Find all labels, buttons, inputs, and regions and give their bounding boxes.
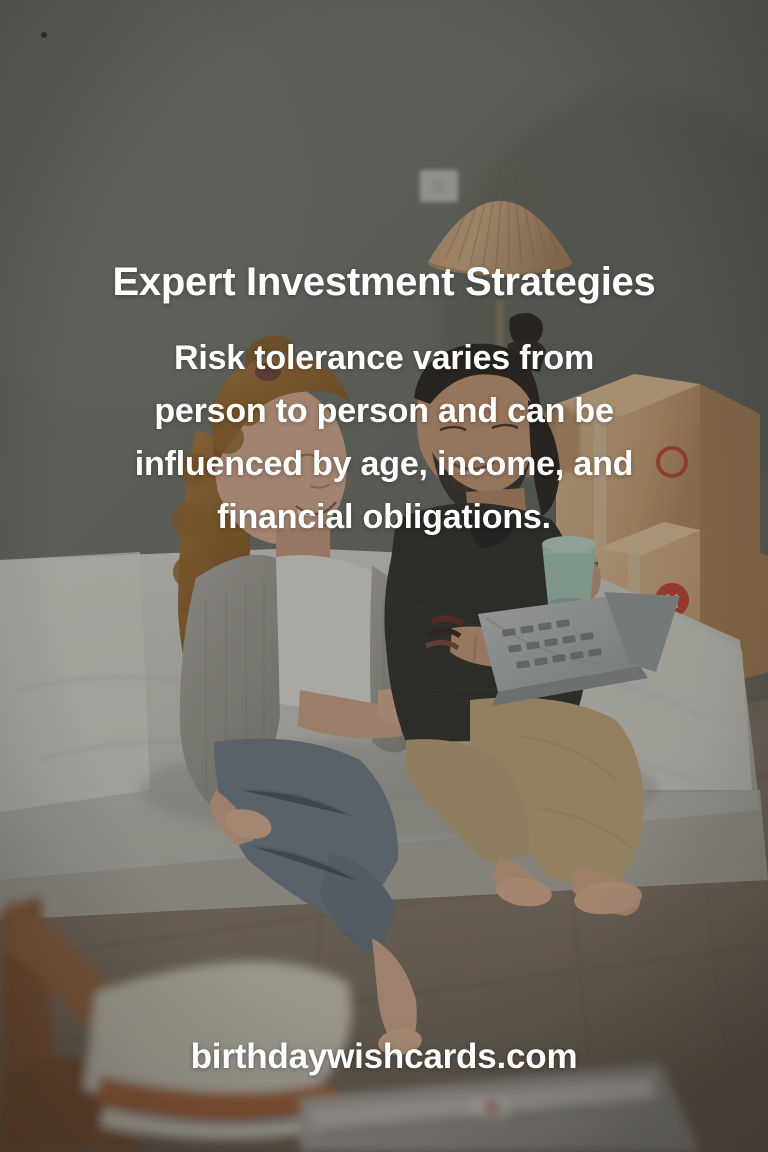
- quote-text: Risk tolerance varies from person to per…: [0, 332, 768, 544]
- page-title: Expert Investment Strategies: [0, 258, 768, 306]
- quote-line: influenced by age, income, and: [60, 438, 708, 491]
- website-url[interactable]: birthdaywishcards.com: [0, 1036, 768, 1078]
- text-layer: Expert Investment Strategies Risk tolera…: [0, 0, 768, 1152]
- social-quote-card: H: [0, 0, 768, 1152]
- quote-line: person to person and can be: [60, 385, 708, 438]
- quote-line: financial obligations.: [60, 491, 708, 544]
- quote-line: Risk tolerance varies from: [60, 332, 708, 385]
